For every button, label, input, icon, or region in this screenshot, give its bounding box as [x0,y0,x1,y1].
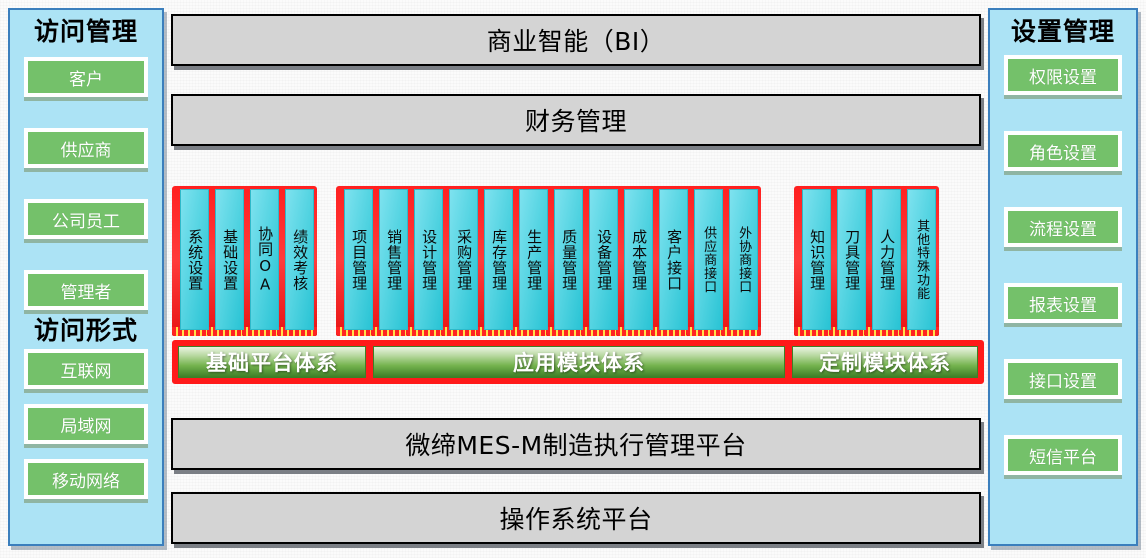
sidebar-item-sms-platform[interactable]: 短信平台 [1004,435,1122,475]
module-tile: 外协商接口 [729,189,758,330]
sidebar-item-manager[interactable]: 管理者 [24,270,148,310]
module-column-cost-management[interactable]: 成本管理 [621,186,656,333]
sidebar-item-mobile-network[interactable]: 移动网络 [24,459,148,499]
layer-label: 操作系统平台 [499,500,652,536]
system-bar-face: 基础平台体系 [178,346,366,378]
module-column-inventory-management[interactable]: 库存管理 [481,186,516,333]
module-tile: 知识管理 [802,189,831,330]
module-column-customer-interface[interactable]: 客户接口 [656,186,691,333]
module-column-equipment-management[interactable]: 设备管理 [586,186,621,333]
right-panel-title: 设置管理 [990,19,1136,44]
layer-mes-platform: 微缔MES-M制造执行管理平台 [171,418,981,470]
sidebar-item-label: 互联网 [61,357,112,382]
module-column-outsourcing-interface[interactable]: 外协商接口 [726,186,761,333]
module-column-collaborative-oa[interactable]: 协同OA [247,186,282,333]
sidebar-item-internet[interactable]: 互联网 [24,349,148,389]
module-tile: 刀具管理 [837,189,866,330]
system-bars: 基础平台体系 应用模块体系 定制模块体系 [171,340,984,384]
module-label: 基础设置 [222,229,237,291]
module-column-hr-management[interactable]: 人力管理 [869,186,904,333]
module-label: 生产管理 [526,229,541,291]
sidebar-item-label: 接口设置 [1029,367,1097,392]
module-column-design-management[interactable]: 设计管理 [411,186,446,333]
module-tile: 设备管理 [589,189,618,330]
module-group-application: 项目管理 销售管理 设计管理 采购管理 库存管理 生产管理 质量 [341,186,761,336]
module-label: 人力管理 [879,229,894,291]
system-bar-label: 定制模块体系 [819,347,951,377]
sidebar-item-permission-settings[interactable]: 权限设置 [1004,55,1122,95]
module-tile: 人力管理 [872,189,901,330]
module-tile: 成本管理 [624,189,653,330]
sidebar-item-supplier[interactable]: 供应商 [24,128,148,168]
module-tile: 绩效考核 [285,189,314,330]
module-tile: 销售管理 [379,189,408,330]
sidebar-item-label: 公司员工 [52,207,120,232]
module-tile: 系统设置 [180,189,209,330]
module-label: 设备管理 [596,229,611,291]
system-bar-face: 定制模块体系 [792,346,978,378]
sidebar-item-interface-settings[interactable]: 接口设置 [1004,359,1122,399]
module-label: 项目管理 [351,229,366,291]
module-tile: 质量管理 [554,189,583,330]
module-column-production-management[interactable]: 生产管理 [516,186,551,333]
module-tile: 库存管理 [484,189,513,330]
system-bar-label: 基础平台体系 [206,347,338,377]
module-label: 销售管理 [386,229,401,291]
module-column-performance-appraisal[interactable]: 绩效考核 [282,186,317,333]
sidebar-item-customer[interactable]: 客户 [24,57,148,97]
module-label: 绩效考核 [292,229,307,291]
module-column-project-management[interactable]: 项目管理 [341,186,376,333]
sidebar-item-label: 客户 [69,65,103,90]
sidebar-item-label: 局域网 [61,412,112,437]
module-column-supplier-interface[interactable]: 供应商接口 [691,186,726,333]
sidebar-item-report-settings[interactable]: 报表设置 [1004,283,1122,323]
system-bar-custom-module[interactable]: 定制模块体系 [786,340,984,384]
settings-management-panel: 设置管理 权限设置 角色设置 流程设置 报表设置 接口设置 短信平台 [988,8,1138,546]
sidebar-item-label: 流程设置 [1029,215,1097,240]
module-label: 外协商接口 [737,226,750,294]
module-tile: 客户接口 [659,189,688,330]
module-tile: 其他特殊功能 [907,189,936,330]
layer-label: 微缔MES-M制造执行管理平台 [405,426,746,462]
module-column-other-special-functions[interactable]: 其他特殊功能 [904,186,939,333]
module-label: 供应商接口 [702,226,715,294]
module-label: 协同OA [257,226,272,294]
system-bar-application-module[interactable]: 应用模块体系 [367,340,791,384]
architecture-stack: 商业智能（BI） 财务管理 系统设置 基础设置 协同OA 绩效考核 [171,0,984,558]
module-columns: 系统设置 基础设置 协同OA 绩效考核 项目管理 销售管理 [171,186,984,336]
sidebar-item-role-settings[interactable]: 角色设置 [1004,131,1122,171]
module-group-basic: 系统设置 基础设置 协同OA 绩效考核 [177,186,317,336]
module-label: 知识管理 [809,229,824,291]
system-bar-label: 应用模块体系 [513,347,645,377]
module-label: 库存管理 [491,229,506,291]
module-column-quality-management[interactable]: 质量管理 [551,186,586,333]
access-form-title: 访问形式 [10,318,162,343]
module-column-knowledge-management[interactable]: 知识管理 [799,186,834,333]
module-label: 设计管理 [421,229,436,291]
module-label: 客户接口 [666,229,681,291]
module-tile: 供应商接口 [694,189,723,330]
module-tile: 协同OA [250,189,279,330]
system-bar-face: 应用模块体系 [373,346,785,378]
module-tile: 采购管理 [449,189,478,330]
module-tile: 生产管理 [519,189,548,330]
module-label: 质量管理 [561,229,576,291]
left-panel-title: 访问管理 [10,19,162,44]
module-label: 刀具管理 [844,229,859,291]
module-column-tooling-management[interactable]: 刀具管理 [834,186,869,333]
module-column-system-settings[interactable]: 系统设置 [177,186,212,333]
sidebar-item-label: 管理者 [61,278,112,303]
module-tile: 基础设置 [215,189,244,330]
module-column-purchase-management[interactable]: 采购管理 [446,186,481,333]
sidebar-item-label: 权限设置 [1029,63,1097,88]
module-label: 系统设置 [187,229,202,291]
layer-operating-system-platform: 操作系统平台 [171,492,981,544]
module-label: 其他特殊功能 [915,219,928,300]
sidebar-item-label: 移动网络 [52,467,120,492]
sidebar-item-label: 报表设置 [1029,291,1097,316]
sidebar-item-label: 短信平台 [1029,443,1097,468]
access-management-panel: 访问管理 客户 供应商 公司员工 管理者 访问形式 互联网 局域网 移动网络 [8,8,164,546]
module-column-basic-settings[interactable]: 基础设置 [212,186,247,333]
layer-business-intelligence: 商业智能（BI） [171,14,981,66]
sidebar-item-employee[interactable]: 公司员工 [24,199,148,239]
sidebar-item-lan[interactable]: 局域网 [24,404,148,444]
sidebar-item-process-settings[interactable]: 流程设置 [1004,207,1122,247]
layer-label: 财务管理 [525,102,627,138]
module-tile: 项目管理 [344,189,373,330]
module-column-sales-management[interactable]: 销售管理 [376,186,411,333]
layer-finance-management: 财务管理 [171,94,981,146]
module-group-custom: 知识管理 刀具管理 人力管理 其他特殊功能 [799,186,939,336]
system-bar-basic-platform[interactable]: 基础平台体系 [172,340,372,384]
sidebar-item-label: 供应商 [61,136,112,161]
sidebar-item-label: 角色设置 [1029,139,1097,164]
module-tile: 设计管理 [414,189,443,330]
layer-label: 商业智能（BI） [487,22,666,58]
module-label: 成本管理 [631,229,646,291]
module-label: 采购管理 [456,229,471,291]
